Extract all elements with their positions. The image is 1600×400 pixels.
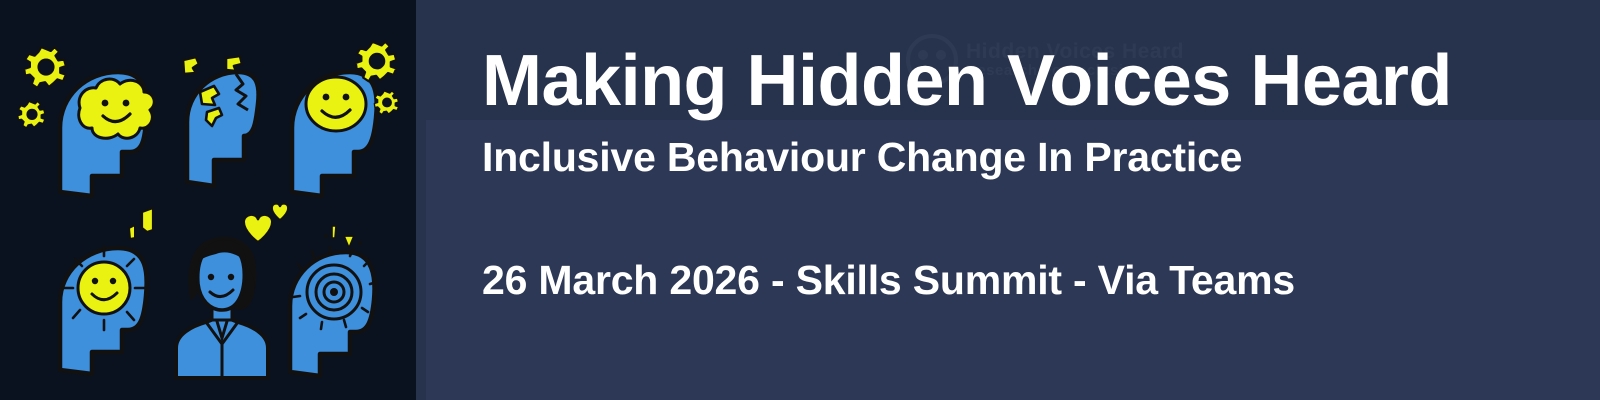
event-banner: Hidden Voices Heard Research For Inclusi…: [0, 0, 1600, 400]
spark-dot: [358, 241, 362, 245]
text-panel: Hidden Voices Heard Research For Inclusi…: [416, 0, 1600, 400]
eye-left: [208, 274, 214, 280]
eye-right: [110, 278, 116, 284]
page-title: Making Hidden Voices Heard: [482, 44, 1600, 119]
illustration-artwork: [0, 0, 416, 400]
brain-shape-icon: [79, 79, 155, 138]
sun-smile-icon: [78, 262, 130, 314]
music-note-small-icon: [129, 225, 135, 239]
event-details: 26 March 2026 - Skills Summit - Via Team…: [482, 258, 1600, 303]
smiley-icon: [306, 77, 366, 131]
spiral-pupil: [330, 288, 338, 296]
spark-dot: [324, 234, 328, 238]
illustration-panel: [0, 0, 416, 400]
music-note-large-icon: [142, 208, 153, 232]
eye-right: [123, 100, 130, 107]
eye-right: [343, 94, 350, 101]
eye-right: [228, 274, 234, 280]
eye-left: [102, 100, 109, 107]
spark-exclaim-icon: [332, 226, 336, 238]
page-subtitle: Inclusive Behaviour Change In Practice: [482, 135, 1600, 180]
eye-left: [92, 278, 98, 284]
eye-left: [323, 94, 330, 101]
banner-copy: Making Hidden Voices Heard Inclusive Beh…: [416, 0, 1600, 303]
